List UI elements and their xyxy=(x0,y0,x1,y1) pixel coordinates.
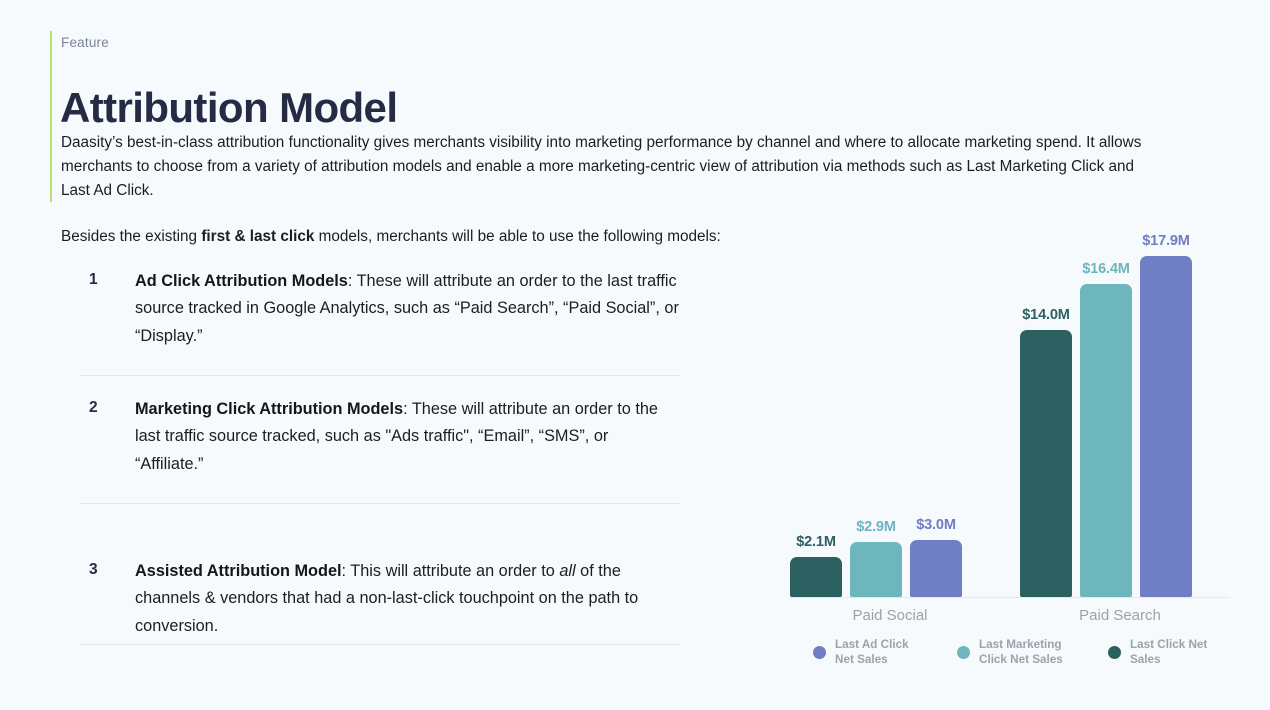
chart-baseline-axis xyxy=(790,597,1230,598)
bar-paid-search-last-ad-click-net-sales: $17.9M xyxy=(1140,225,1192,597)
besides-prefix: Besides the existing xyxy=(61,228,201,245)
bar-value-label: $16.4M xyxy=(1068,261,1144,277)
bar-paid-search-last-marketing-click-net-sales: $16.4M xyxy=(1080,225,1132,597)
legend-label-line1: Last Ad Click xyxy=(835,638,909,651)
grouped-bar-chart: $2.1M$2.9M$3.0M$14.0M$16.4M$17.9M Paid S… xyxy=(780,225,1240,685)
bar-paid-social-last-click-net-sales: $2.1M xyxy=(790,225,842,597)
bar-rect xyxy=(1020,330,1072,597)
bar-rect xyxy=(1140,256,1192,597)
legend-label: Last Marketing Click Net Sales xyxy=(979,637,1071,667)
legend-label-line2: Click Net Sales xyxy=(979,653,1063,666)
group-label-paid-social: Paid Social xyxy=(790,607,990,624)
intro-paragraph: Daasity’s best-in-class attribution func… xyxy=(61,131,1161,203)
legend-color-dot xyxy=(957,646,970,659)
legend-item: Last Marketing Click Net Sales xyxy=(957,637,1071,667)
numbered-list: 1 Ad Click Attribution Models: These wil… xyxy=(81,268,681,678)
legend-item: Last Ad Click Net Sales xyxy=(813,637,927,667)
list-item-bold: Assisted Attribution Model xyxy=(135,562,342,580)
bar-value-label: $17.9M xyxy=(1128,233,1204,249)
legend-item: Last Click Net Sales xyxy=(1108,637,1222,667)
chart-plot-area: $2.1M$2.9M$3.0M$14.0M$16.4M$17.9M xyxy=(780,225,1230,597)
besides-bold: first & last click xyxy=(201,228,314,245)
bar-rect xyxy=(910,540,962,597)
bar-paid-search-last-click-net-sales: $14.0M xyxy=(1020,225,1072,597)
list-item-number: 1 xyxy=(89,271,98,289)
accent-bar xyxy=(50,31,52,202)
eyebrow-label: Feature xyxy=(61,35,109,50)
bar-paid-social-last-marketing-click-net-sales: $2.9M xyxy=(850,225,902,597)
list-item-text: Ad Click Attribution Models: These will … xyxy=(135,268,681,350)
legend-label: Last Ad Click Net Sales xyxy=(835,637,927,667)
bar-value-label: $14.0M xyxy=(1008,307,1084,323)
chart-legend: Last Ad Click Net Sales Last Marketing C… xyxy=(785,637,1235,687)
page-title: Attribution Model xyxy=(60,85,397,131)
bar-value-label: $3.0M xyxy=(898,517,974,533)
bar-value-label: $2.1M xyxy=(778,534,854,550)
list-divider xyxy=(81,644,680,645)
legend-color-dot xyxy=(1108,646,1121,659)
content-column: Feature Attribution Model Daasity’s best… xyxy=(0,0,710,710)
legend-label-line1: Last Marketing xyxy=(979,638,1061,651)
besides-suffix: models, merchants will be able to use th… xyxy=(314,228,720,245)
list-item-text: Marketing Click Attribution Models: Thes… xyxy=(135,396,681,478)
bar-rect xyxy=(850,542,902,597)
list-item: 1 Ad Click Attribution Models: These wil… xyxy=(81,268,681,375)
bar-paid-social-last-ad-click-net-sales: $3.0M xyxy=(910,225,962,597)
bar-rect xyxy=(790,557,842,597)
legend-label: Last Click Net Sales xyxy=(1130,637,1222,667)
list-item: 3 Assisted Attribution Model: This will … xyxy=(81,524,681,678)
legend-label-line1: Last Click Net xyxy=(1130,638,1207,651)
legend-color-dot xyxy=(813,646,826,659)
list-item-text: Assisted Attribution Model: This will at… xyxy=(135,558,681,640)
group-label-paid-search: Paid Search xyxy=(1020,607,1220,624)
list-item-number: 3 xyxy=(89,561,98,579)
list-item: 2 Marketing Click Attribution Models: Th… xyxy=(81,375,681,524)
list-item-bold: Ad Click Attribution Models xyxy=(135,272,348,290)
list-item-italic: all xyxy=(559,562,575,580)
legend-label-line2: Sales xyxy=(1130,653,1161,666)
list-divider xyxy=(81,503,680,504)
bar-rect xyxy=(1080,284,1132,597)
list-divider xyxy=(81,375,680,376)
list-item-number: 2 xyxy=(89,399,98,417)
list-item-rest-pre: : This will attribute an order to xyxy=(342,562,560,580)
legend-label-line2: Net Sales xyxy=(835,653,888,666)
list-item-bold: Marketing Click Attribution Models xyxy=(135,400,403,418)
